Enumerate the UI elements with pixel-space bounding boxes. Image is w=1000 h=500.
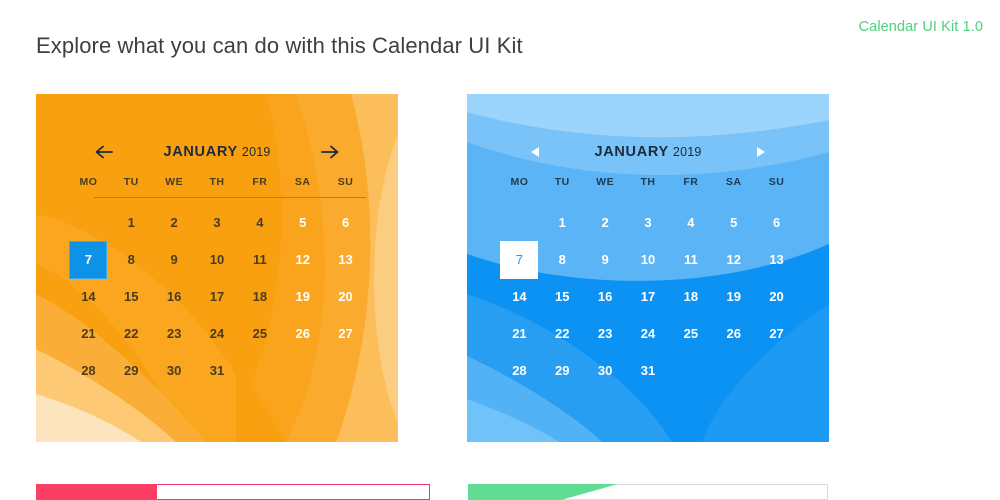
calendar-card-blue: JANUARY2019 MOTUWETHFRSASU 1234567891011…	[467, 94, 829, 442]
prev-month-button-orange[interactable]	[91, 141, 117, 163]
orange-calendar-body: JANUARY2019 MOTUWETHFRSASU 1234567891011…	[36, 94, 398, 442]
blue-date-grid: 1234567891011121314151617181920212223242…	[498, 204, 798, 389]
day-cell-18[interactable]: 18	[669, 278, 712, 315]
day-cell-31[interactable]: 31	[196, 352, 239, 389]
weekday-fr: FR	[669, 176, 712, 188]
pink-card-preview[interactable]	[36, 484, 430, 500]
day-cell-30[interactable]: 30	[153, 352, 196, 389]
day-cell-26[interactable]: 26	[281, 315, 324, 352]
day-cell-27[interactable]: 27	[755, 315, 798, 352]
day-cell-6[interactable]: 6	[755, 204, 798, 241]
day-cell-21[interactable]: 21	[498, 315, 541, 352]
selected-day-chip: 7	[500, 241, 538, 279]
day-cell-3[interactable]: 3	[627, 204, 670, 241]
weekday-tu: TU	[110, 176, 153, 188]
day-cell-7[interactable]: 7	[498, 241, 541, 278]
day-cell-28[interactable]: 28	[498, 352, 541, 389]
pink-card-accent-block	[36, 484, 157, 500]
day-cell-6[interactable]: 6	[324, 204, 367, 241]
day-cell-9[interactable]: 9	[584, 241, 627, 278]
day-cell-5[interactable]: 5	[281, 204, 324, 241]
blue-year-label: 2019	[673, 145, 702, 159]
day-cell-10[interactable]: 10	[627, 241, 670, 278]
day-cell-11[interactable]: 11	[669, 241, 712, 278]
day-cell-16[interactable]: 16	[584, 278, 627, 315]
day-cell-19[interactable]: 19	[281, 278, 324, 315]
weekday-mo: MO	[67, 176, 110, 188]
day-cell-8[interactable]: 8	[541, 241, 584, 278]
day-cell-12[interactable]: 12	[712, 241, 755, 278]
day-cell-4[interactable]: 4	[669, 204, 712, 241]
day-cell-19[interactable]: 19	[712, 278, 755, 315]
triangle-left-icon	[529, 145, 541, 159]
day-cell-31[interactable]: 31	[627, 352, 670, 389]
day-cell-22[interactable]: 22	[541, 315, 584, 352]
day-cell-5[interactable]: 5	[712, 204, 755, 241]
weekday-su: SU	[324, 176, 367, 188]
day-cell-30[interactable]: 30	[584, 352, 627, 389]
weekday-th: TH	[196, 176, 239, 188]
day-cell-17[interactable]: 17	[196, 278, 239, 315]
orange-month-title: JANUARY2019	[163, 144, 270, 160]
orange-weekday-row: MOTUWETHFRSASU	[67, 176, 367, 188]
day-cell-27[interactable]: 27	[324, 315, 367, 352]
day-cell-23[interactable]: 23	[153, 315, 196, 352]
day-cell-8[interactable]: 8	[110, 241, 153, 278]
day-cell-empty	[67, 204, 110, 241]
day-cell-20[interactable]: 20	[324, 278, 367, 315]
day-cell-13[interactable]: 13	[324, 241, 367, 278]
weekday-fr: FR	[238, 176, 281, 188]
orange-date-grid: 1234567891011121314151617181920212223242…	[67, 204, 367, 389]
day-cell-14[interactable]: 14	[67, 278, 110, 315]
day-cell-24[interactable]: 24	[627, 315, 670, 352]
day-cell-21[interactable]: 21	[67, 315, 110, 352]
weekday-su: SU	[755, 176, 798, 188]
weekday-sa: SA	[712, 176, 755, 188]
day-cell-10[interactable]: 10	[196, 241, 239, 278]
day-cell-24[interactable]: 24	[196, 315, 239, 352]
day-cell-17[interactable]: 17	[627, 278, 670, 315]
day-cell-2[interactable]: 2	[153, 204, 196, 241]
day-cell-11[interactable]: 11	[238, 241, 281, 278]
orange-month-label: JANUARY	[163, 144, 237, 160]
orange-year-label: 2019	[242, 145, 271, 159]
orange-weekday-divider	[94, 197, 366, 198]
arrow-left-icon	[94, 145, 114, 159]
day-cell-20[interactable]: 20	[755, 278, 798, 315]
next-month-button-blue[interactable]	[748, 141, 774, 163]
weekday-mo: MO	[498, 176, 541, 188]
selected-day-chip: 7	[69, 241, 107, 279]
version-label: Calendar UI Kit 1.0	[859, 19, 983, 35]
weekday-tu: TU	[541, 176, 584, 188]
prev-month-button-blue[interactable]	[522, 141, 548, 163]
day-cell-1[interactable]: 1	[541, 204, 584, 241]
day-cell-empty	[498, 204, 541, 241]
blue-weekday-row: MOTUWETHFRSASU	[498, 176, 798, 188]
day-cell-16[interactable]: 16	[153, 278, 196, 315]
weekday-we: WE	[153, 176, 196, 188]
next-month-button-orange[interactable]	[317, 141, 343, 163]
day-cell-15[interactable]: 15	[110, 278, 153, 315]
day-cell-22[interactable]: 22	[110, 315, 153, 352]
day-cell-25[interactable]: 25	[669, 315, 712, 352]
day-cell-13[interactable]: 13	[755, 241, 798, 278]
page-title: Explore what you can do with this Calend…	[36, 33, 523, 59]
arrow-right-icon	[320, 145, 340, 159]
day-cell-29[interactable]: 29	[110, 352, 153, 389]
orange-calendar-header: JANUARY2019	[36, 144, 398, 160]
day-cell-28[interactable]: 28	[67, 352, 110, 389]
day-cell-25[interactable]: 25	[238, 315, 281, 352]
weekday-we: WE	[584, 176, 627, 188]
day-cell-18[interactable]: 18	[238, 278, 281, 315]
app-root: Calendar UI Kit 1.0 Explore what you can…	[0, 0, 1000, 500]
day-cell-14[interactable]: 14	[498, 278, 541, 315]
green-card-preview[interactable]	[468, 484, 828, 500]
blue-calendar-body: JANUARY2019 MOTUWETHFRSASU 1234567891011…	[467, 94, 829, 442]
weekday-th: TH	[627, 176, 670, 188]
day-cell-2[interactable]: 2	[584, 204, 627, 241]
day-cell-26[interactable]: 26	[712, 315, 755, 352]
day-cell-7[interactable]: 7	[67, 241, 110, 278]
day-cell-15[interactable]: 15	[541, 278, 584, 315]
day-cell-12[interactable]: 12	[281, 241, 324, 278]
day-cell-1[interactable]: 1	[110, 204, 153, 241]
blue-month-title: JANUARY2019	[594, 144, 701, 160]
day-cell-3[interactable]: 3	[196, 204, 239, 241]
day-cell-4[interactable]: 4	[238, 204, 281, 241]
triangle-right-icon	[755, 145, 767, 159]
calendar-card-orange: JANUARY2019 MOTUWETHFRSASU 1234567891011…	[36, 94, 398, 442]
day-cell-9[interactable]: 9	[153, 241, 196, 278]
blue-calendar-header: JANUARY2019	[467, 144, 829, 160]
blue-month-label: JANUARY	[594, 144, 668, 160]
day-cell-29[interactable]: 29	[541, 352, 584, 389]
day-cell-23[interactable]: 23	[584, 315, 627, 352]
weekday-sa: SA	[281, 176, 324, 188]
